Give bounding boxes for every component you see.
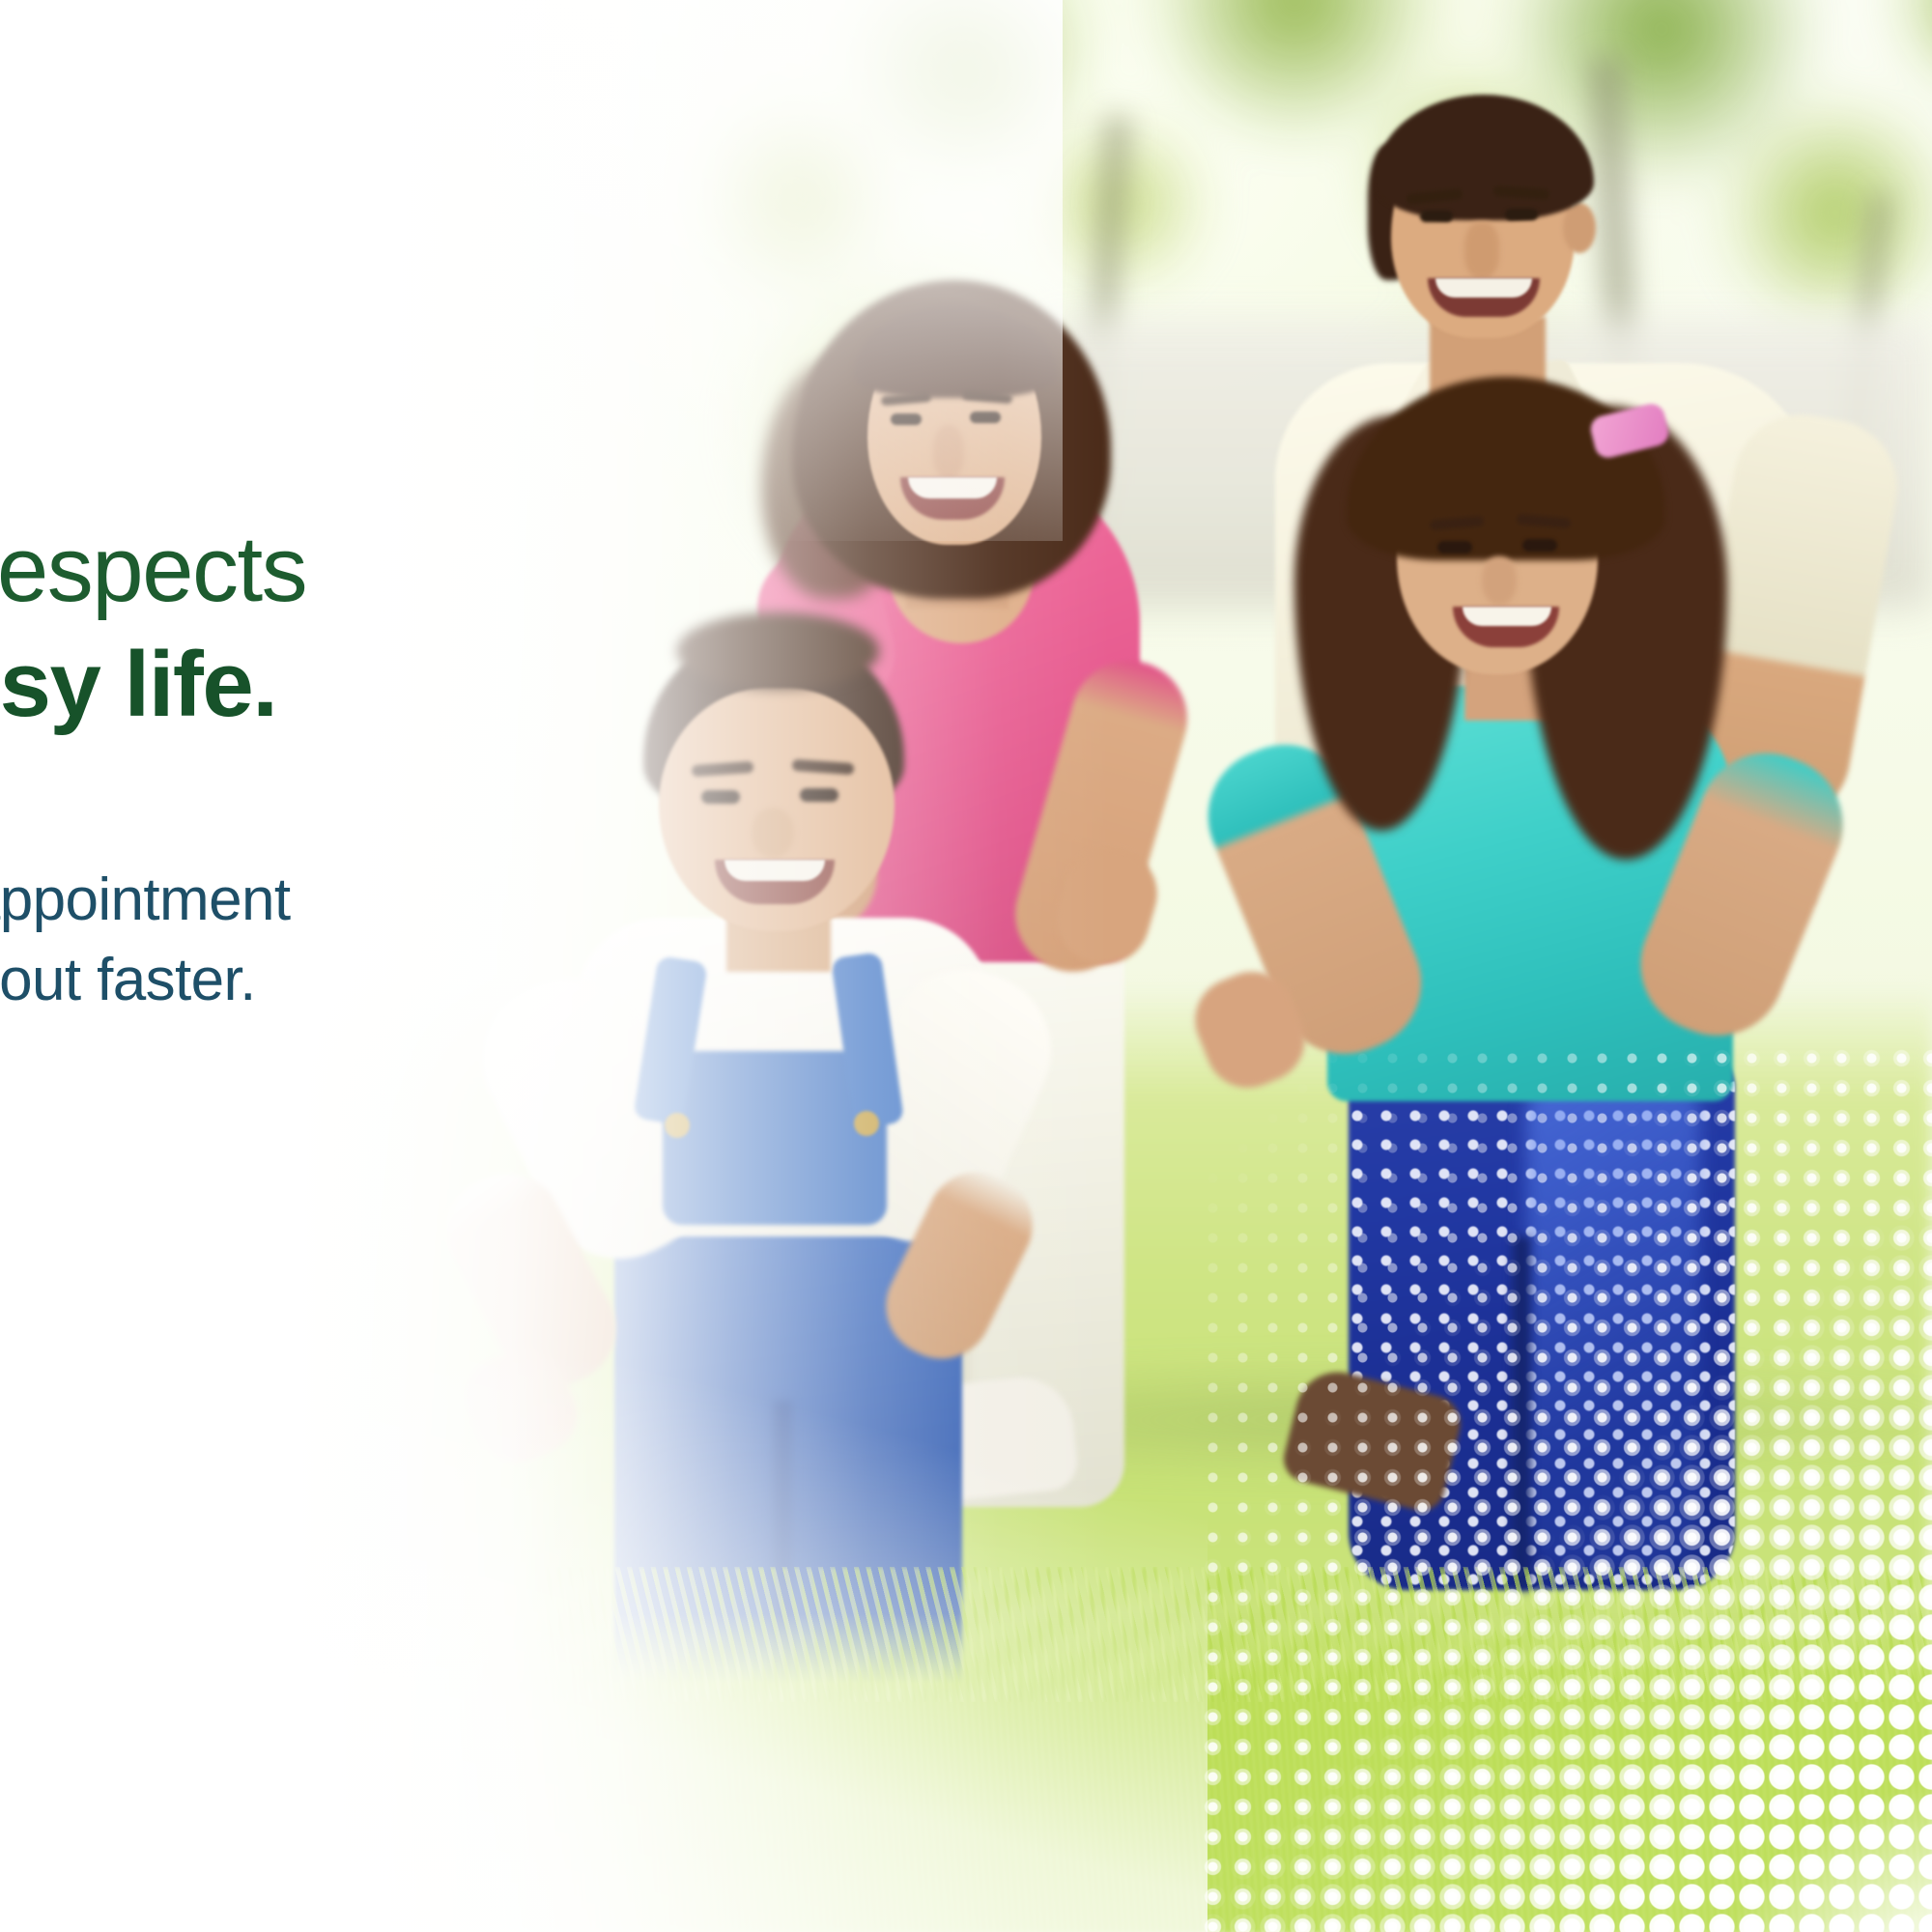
subcopy: dule an appointment et in and out faster… (0, 860, 705, 1020)
person-girl (1285, 367, 1932, 1507)
subcopy-line-2: et in and out faster. (0, 940, 705, 1020)
headline-line-2: our busy life. (0, 627, 696, 742)
copy-block: b that respects our busy life. dule an a… (0, 0, 696, 1932)
headline: b that respects our busy life. (0, 512, 696, 742)
advertisement-banner: b that respects our busy life. dule an a… (0, 0, 1932, 1932)
subcopy-line-1: dule an appointment (0, 860, 705, 940)
headline-line-1: b that respects (0, 512, 696, 627)
